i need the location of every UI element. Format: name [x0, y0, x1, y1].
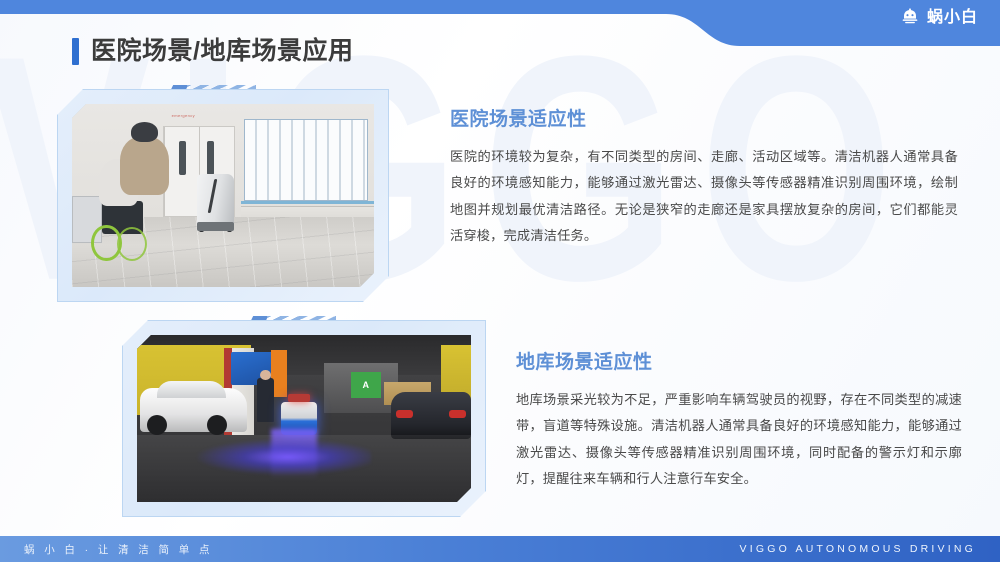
hospital-scene: emergency: [72, 104, 374, 287]
garage-section-body: 地库场景采光较为不足，严重影响车辆驾驶员的视野，存在不同类型的减速带，盲道等特殊…: [516, 387, 962, 493]
door-glass-right: [207, 141, 214, 175]
garage-dark-car: [391, 392, 471, 439]
hospital-cleaning-robot: [197, 174, 233, 229]
dark-car-taillight-right: [449, 410, 467, 417]
brand-name: 蜗小白: [927, 8, 978, 28]
garage-pedestrian: [257, 378, 274, 421]
page-footer: 蜗 小 白 · 让 清 洁 简 单 点 VIGGO AUTONOMOUS DRI…: [0, 536, 1000, 562]
hospital-photo-frame: emergency: [57, 89, 389, 302]
page-title-row: 医院场景/地库场景应用: [72, 38, 353, 65]
hospital-section-body: 医院的环境较为复杂，有不同类型的房间、走廊、活动区域等。清洁机器人通常具备良好的…: [450, 144, 958, 250]
garage-zone-a-sign: A: [351, 372, 381, 399]
wheelchair-tire-right: [117, 227, 148, 262]
footer-brand-en: VIGGO AUTONOMOUS DRIVING: [740, 543, 976, 555]
page-title: 医院场景/地库场景应用: [91, 39, 353, 64]
hospital-wall-rail: [241, 201, 374, 204]
garage-photo-frame: A: [122, 320, 486, 517]
dark-car-taillight-left: [396, 410, 414, 417]
hospital-notice-board: [244, 119, 368, 201]
hospital-photo: emergency: [72, 104, 374, 287]
garage-scene: A: [137, 335, 471, 502]
garage-section-heading: 地库场景适应性: [516, 353, 962, 374]
white-car-wheel-rear: [207, 415, 227, 435]
title-accent-bar: [72, 38, 79, 65]
brand-logo: 蜗小白: [900, 8, 978, 28]
door-glass-left: [179, 141, 186, 175]
robot-wheel-left: [199, 228, 204, 232]
hospital-person-seated: [120, 137, 168, 196]
hospital-emergency-sign: emergency: [172, 113, 195, 118]
hospital-text-block: 医院场景适应性 医院的环境较为复杂，有不同类型的房间、走廊、活动区域等。清洁机器…: [450, 110, 958, 250]
footer-slogan: 蜗 小 白 · 让 清 洁 简 单 点: [24, 542, 213, 557]
garage-photo: A: [137, 335, 471, 502]
garage-text-block: 地库场景适应性 地库场景采光较为不足，严重影响车辆驾驶员的视野，存在不同类型的减…: [516, 353, 962, 493]
robot-projected-light-band: [197, 439, 371, 476]
garage-white-car: [140, 388, 247, 431]
hospital-section-heading: 医院场景适应性: [450, 110, 958, 131]
robot-logo-icon: [900, 8, 920, 28]
